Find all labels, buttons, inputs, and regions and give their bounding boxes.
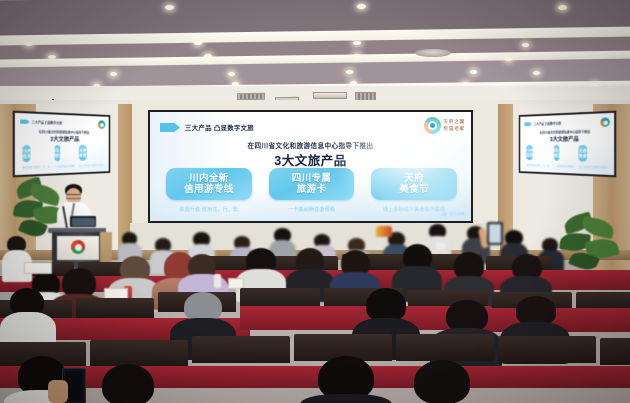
side-slide-headline: 3大文旅产品 xyxy=(520,134,614,143)
side-product-card: 川内全新 信用游专线 xyxy=(526,145,533,160)
ceiling-downlight xyxy=(522,43,529,47)
left-side-projection-screen: 三大产品 凸显数字文旅 在四川省文化和旅游信息中心指导下推出 3大文旅产品 川内… xyxy=(13,111,111,178)
card-line-2: 旅游卡 xyxy=(554,153,560,158)
seat xyxy=(396,334,494,361)
slide-tag-label: 三大产品 凸显数字文旅 xyxy=(185,123,254,132)
seat xyxy=(498,336,596,363)
card-line-2: 信用游专线 xyxy=(22,153,30,158)
audience-member xyxy=(0,288,56,348)
audience-member xyxy=(376,226,392,242)
product-card-box: 川内全新 信用游专线 xyxy=(166,168,252,200)
ceiling-downlight xyxy=(357,4,366,9)
slide-tag: 三大产品 凸显数字文旅 xyxy=(160,123,254,132)
ceiling-downlight xyxy=(110,72,117,76)
product-card: 川内全新 信用游专线 体验升级 信用住、行、玩 xyxy=(166,168,252,213)
side-slide-headline: 3大文旅产品 xyxy=(15,134,109,143)
side-product-card: 四川专属 旅游卡 xyxy=(54,145,60,161)
side-product-card: 天府 美食节 xyxy=(79,145,86,161)
hand-holding-phone xyxy=(48,380,68,403)
ceiling-downlight xyxy=(346,70,353,74)
ceiling-downlight xyxy=(505,57,512,61)
audience-member xyxy=(300,356,392,403)
right-side-projection-screen: 三大产品 凸显数字文旅 在四川省文化和旅游信息中心指导下推出 3大文旅产品 川内… xyxy=(519,111,617,178)
ceiling-speaker xyxy=(415,49,451,57)
card-line-2: 信用游专线 xyxy=(168,184,250,195)
ceiling xyxy=(0,0,630,92)
podium-emblem-icon xyxy=(71,240,85,254)
card-line-2: 旅游卡 xyxy=(54,153,60,158)
main-projection-screen: 三大产品 凸显数字文旅 天府之国 熊猫老家 在四川省文化和旅游信息中心指导下推出… xyxy=(148,110,473,223)
ceiling-downlight xyxy=(25,42,33,46)
seat xyxy=(600,338,630,365)
ceiling-downlight xyxy=(204,54,212,58)
side-slide-tag-label: 三大产品 凸显数字文旅 xyxy=(32,120,62,125)
ceiling-downlight xyxy=(48,55,56,59)
side-slide-logo-icon xyxy=(98,120,106,129)
conference-hall-photo: 三大产品 凸显数字文旅 在四川省文化和旅游信息中心指导下推出 3大文旅产品 川内… xyxy=(0,0,630,403)
presenter-glasses-icon xyxy=(66,194,81,199)
card-line-2: 信用游专线 xyxy=(526,152,533,157)
tag-arrow-icon xyxy=(20,119,29,124)
ceiling-downlight xyxy=(353,41,361,45)
water-bottle xyxy=(214,274,221,288)
ceiling-downlight xyxy=(165,5,174,10)
ceiling-downlight xyxy=(228,72,235,76)
card-caption: 一卡集纳畅往游预购 xyxy=(554,164,574,169)
audience-member xyxy=(86,364,170,403)
name-card xyxy=(24,262,52,274)
card-caption: 体验升级 信用住、行、玩 xyxy=(526,163,549,168)
side-slide-cards: 川内全新 信用游专线 体验升级 信用住、行、玩 四川专属 旅游卡 一卡集纳畅往游… xyxy=(22,145,103,170)
seat xyxy=(192,336,290,363)
card-caption: 体验升级 信用住、行、玩 xyxy=(166,206,252,213)
side-product-card: 川内全新 信用游专线 xyxy=(22,145,30,162)
ceiling-downlight xyxy=(194,41,202,45)
ceiling-downlight xyxy=(353,54,361,58)
tag-arrow-icon xyxy=(160,123,180,132)
card-line-1: 川内全新 xyxy=(168,173,250,184)
ceiling-downlight xyxy=(533,71,540,75)
tag-arrow-icon xyxy=(524,122,532,126)
audience-member xyxy=(396,360,488,403)
card-line-2: 美食节 xyxy=(79,153,86,158)
side-slide-cards: 川内全新 信用游专线 体验升级 信用住、行、玩 四川专属 旅游卡 一卡集纳畅往游… xyxy=(526,145,608,170)
ceiling-vent xyxy=(313,92,347,99)
ceiling-downlight xyxy=(558,5,567,10)
side-slide-tag-label: 三大产品 凸显数字文旅 xyxy=(534,121,561,126)
side-product-card: 天府 美食节 xyxy=(579,145,587,162)
seat xyxy=(90,340,188,366)
side-product-card: 四川专属 旅游卡 xyxy=(554,145,560,161)
ceiling-downlight xyxy=(470,70,477,74)
card-caption: 一卡集纳畅往游预购 xyxy=(54,164,74,169)
card-line-2: 美食节 xyxy=(579,153,587,158)
ceiling-downlight xyxy=(350,81,357,85)
patterned-hat-icon xyxy=(376,226,392,237)
seat xyxy=(76,298,154,318)
